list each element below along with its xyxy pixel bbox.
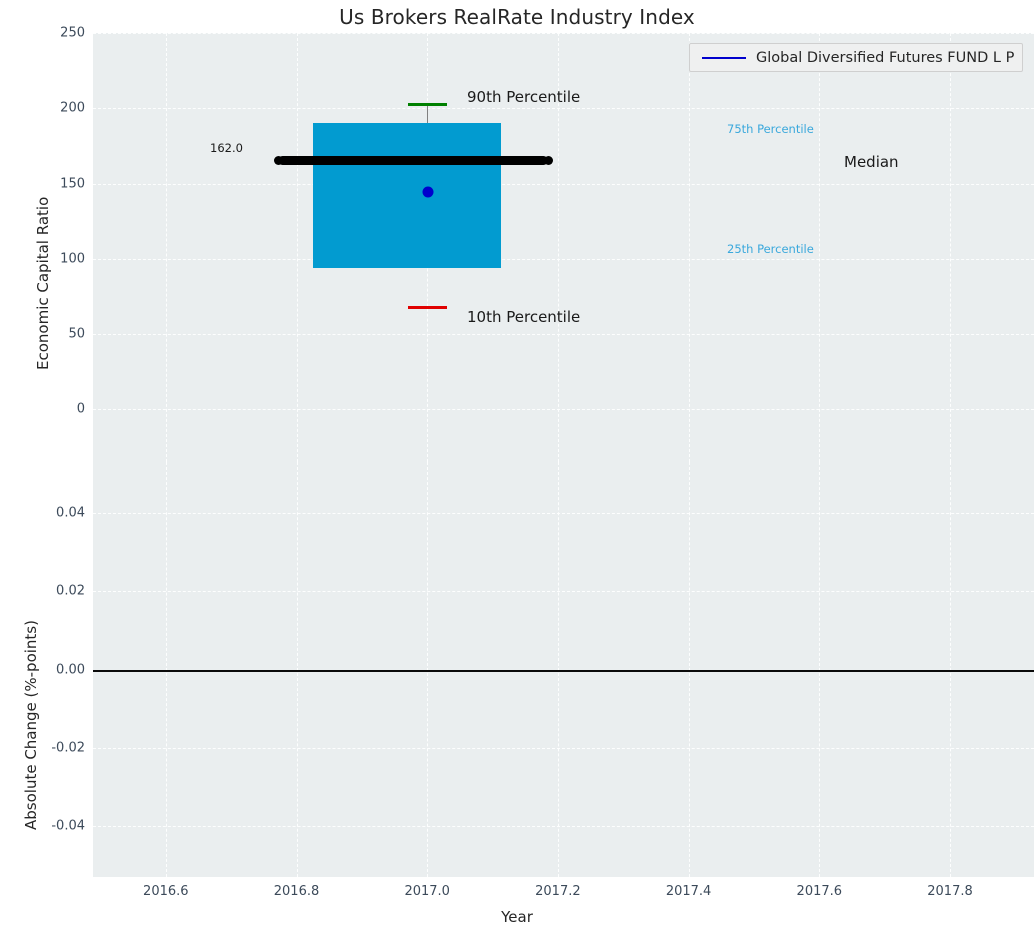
median-line-cap-right <box>544 156 553 165</box>
gridline-y-150 <box>93 184 1034 185</box>
bottom-subplot-y-axis: 0.04 0.02 0.00 -0.02 -0.04 <box>0 462 85 877</box>
ytick-0-00: 0.00 <box>5 662 85 677</box>
xtick-2017-0: 2017.0 <box>382 884 472 899</box>
annotation-p25: 25th Percentile <box>727 242 814 256</box>
ytick-neg-0-04: -0.04 <box>5 818 85 833</box>
ytick-0-04: 0.04 <box>5 506 85 521</box>
median-value-label: 162.0 <box>210 141 243 155</box>
gridline-y-250 <box>93 33 1034 34</box>
xtick-2016-6: 2016.6 <box>121 884 211 899</box>
gridline-y-0-04 <box>93 513 1034 514</box>
annotation-p75: 75th Percentile <box>727 122 814 136</box>
gridline-x-2017-4 <box>689 33 690 462</box>
xtick-2017-2: 2017.2 <box>513 884 603 899</box>
ytick-250: 250 <box>5 26 85 41</box>
xtick-2016-8: 2016.8 <box>252 884 342 899</box>
legend[interactable]: Global Diversified Futures FUND L P <box>689 43 1023 72</box>
xtick-2017-4: 2017.4 <box>644 884 734 899</box>
top-subplot-plot-area: 162.0 90th Percentile 75th Percentile Me… <box>93 33 1034 462</box>
y-axis-label-top: Economic Capital Ratio <box>34 197 52 370</box>
gridline-y-50 <box>93 334 1034 335</box>
bottom-subplot-plot-area <box>93 462 1034 877</box>
chart-title: Us Brokers RealRate Industry Index <box>0 5 1034 29</box>
median-line <box>278 156 548 165</box>
ytick-200: 200 <box>5 101 85 116</box>
gridline-y-100 <box>93 259 1034 260</box>
xtick-2017-6: 2017.6 <box>774 884 864 899</box>
annotation-median: Median <box>844 153 899 171</box>
interquartile-box <box>313 123 501 268</box>
legend-line-swatch <box>702 57 746 59</box>
ytick-0: 0 <box>5 402 85 417</box>
annotation-p90: 90th Percentile <box>467 88 580 106</box>
xtick-2017-8: 2017.8 <box>905 884 995 899</box>
ytick-150: 150 <box>5 176 85 191</box>
p10-cap <box>408 306 447 309</box>
zero-reference-line <box>93 670 1034 672</box>
gridline-y-200 <box>93 108 1034 109</box>
p90-cap <box>408 103 447 106</box>
gridline-y-0-02 <box>93 591 1034 592</box>
chart-figure: Us Brokers RealRate Industry Index <box>0 0 1034 942</box>
gridline-x-2017-6 <box>819 33 820 462</box>
gridline-y-neg-0-02 <box>93 748 1034 749</box>
y-axis-label-bottom: Absolute Change (%-points) <box>22 620 40 830</box>
gridline-x-2017-8 <box>950 33 951 462</box>
gridline-x-2016-6 <box>166 33 167 462</box>
legend-entry-label: Global Diversified Futures FUND L P <box>756 50 1014 66</box>
x-axis-label: Year <box>0 908 1034 926</box>
ytick-neg-0-02: -0.02 <box>5 740 85 755</box>
ytick-0-02: 0.02 <box>5 584 85 599</box>
median-line-cap-left <box>274 156 283 165</box>
gridline-y-neg-0-04 <box>93 826 1034 827</box>
annotation-p10: 10th Percentile <box>467 308 580 326</box>
gridline-x-2016-8 <box>297 33 298 462</box>
company-value-marker[interactable] <box>422 187 433 198</box>
gridline-y-0 <box>93 409 1034 410</box>
